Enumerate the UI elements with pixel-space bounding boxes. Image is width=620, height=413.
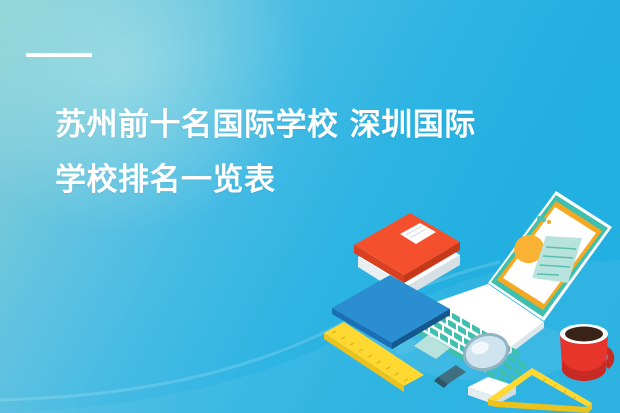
study-desk-illustration <box>320 183 620 413</box>
mug-coffee <box>565 327 603 342</box>
accent-dash <box>26 53 92 57</box>
browser-dot-2 <box>542 218 546 222</box>
triangle-bottom-edge <box>496 401 588 413</box>
banner: 苏州前十名国际学校 深圳国际 学校排名一览表 <box>0 0 620 413</box>
browser-dot-1 <box>537 216 541 220</box>
browser-dot-3 <box>547 220 551 224</box>
coffee-mug <box>560 324 614 381</box>
screen-text-line-4 <box>537 274 559 275</box>
book-stack <box>354 213 460 297</box>
